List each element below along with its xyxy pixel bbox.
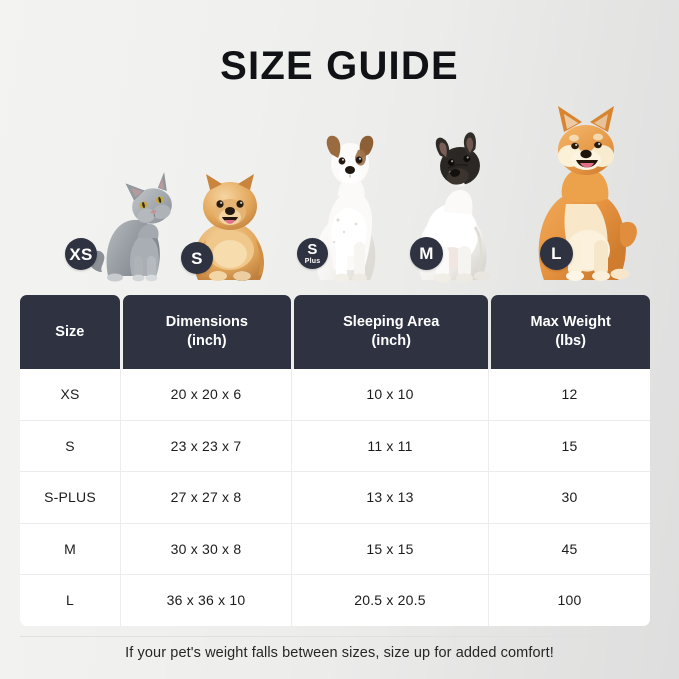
table-body: XS 20 x 20 x 6 10 x 10 12 S 23 x 23 x 7 … (20, 369, 650, 626)
table-header-row: Size Dimensions (inch) Sleeping Area (in… (20, 295, 650, 369)
animal-lineup: XS (0, 88, 679, 284)
animal-figure-s-plus: S Plus (300, 124, 396, 284)
animal-figure-xs: XS (78, 164, 188, 284)
cat-icon (78, 164, 188, 284)
cell-dimensions: 27 x 27 x 8 (121, 472, 292, 523)
column-header-size: Size (20, 295, 120, 369)
cell-sleeping-area: 20.5 x 20.5 (292, 575, 489, 626)
size-badge-label: L (551, 245, 562, 262)
size-badge-label: S (307, 242, 317, 257)
column-header-sleeping-area: Sleeping Area (inch) (294, 295, 488, 369)
cell-size: S-PLUS (20, 472, 121, 523)
cell-sleeping-area: 15 x 15 (292, 524, 489, 575)
cell-max-weight: 12 (489, 369, 650, 420)
size-badge-label: XS (69, 246, 92, 263)
size-guide-page: SIZE GUIDE (0, 0, 679, 679)
cell-max-weight: 15 (489, 421, 650, 472)
cell-sleeping-area: 11 x 11 (292, 421, 489, 472)
cell-max-weight: 100 (489, 575, 650, 626)
column-header-line1: Sleeping Area (343, 313, 439, 332)
cell-size: S (20, 421, 121, 472)
column-header-max-weight: Max Weight (lbs) (491, 295, 650, 369)
size-badge-label: S (191, 250, 203, 267)
cell-size: L (20, 575, 121, 626)
size-badge-s: S (181, 242, 213, 274)
cell-dimensions: 36 x 36 x 10 (121, 575, 292, 626)
size-badge-l: L (540, 237, 573, 270)
size-badge-m: M (410, 237, 443, 270)
table-row: L 36 x 36 x 10 20.5 x 20.5 100 (20, 575, 650, 626)
cell-size: M (20, 524, 121, 575)
cell-sleeping-area: 13 x 13 (292, 472, 489, 523)
cell-dimensions: 23 x 23 x 7 (121, 421, 292, 472)
cell-dimensions: 20 x 20 x 6 (121, 369, 292, 420)
column-header-line1: Size (55, 323, 84, 342)
column-header-line2: (inch) (343, 332, 439, 351)
cell-sleeping-area: 10 x 10 (292, 369, 489, 420)
animal-figure-l: L (522, 98, 650, 284)
animal-figure-s: S (182, 162, 282, 284)
table-row: M 30 x 30 x 8 15 x 15 45 (20, 524, 650, 576)
cell-max-weight: 30 (489, 472, 650, 523)
size-badge-sublabel: Plus (305, 258, 321, 265)
column-header-line1: Dimensions (166, 313, 248, 332)
column-header-dimensions: Dimensions (inch) (123, 295, 292, 369)
table-row: S 23 x 23 x 7 11 x 11 15 (20, 421, 650, 473)
column-header-line2: (inch) (166, 332, 248, 351)
table-row: S-PLUS 27 x 27 x 8 13 x 13 30 (20, 472, 650, 524)
size-badge-label: M (419, 245, 433, 262)
cell-max-weight: 45 (489, 524, 650, 575)
size-badge-xs: XS (65, 238, 97, 270)
animal-figure-m: M (404, 126, 508, 284)
size-table: Size Dimensions (inch) Sleeping Area (in… (20, 295, 650, 626)
footer-note: If your pet's weight falls between sizes… (0, 645, 679, 661)
table-row: XS 20 x 20 x 6 10 x 10 12 (20, 369, 650, 421)
column-header-line1: Max Weight (531, 313, 611, 332)
cell-size: XS (20, 369, 121, 420)
cell-dimensions: 30 x 30 x 8 (121, 524, 292, 575)
footer-divider (20, 636, 650, 637)
page-title: SIZE GUIDE (0, 44, 679, 89)
column-header-line2: (lbs) (531, 332, 611, 351)
size-badge-s-plus: S Plus (297, 238, 328, 269)
